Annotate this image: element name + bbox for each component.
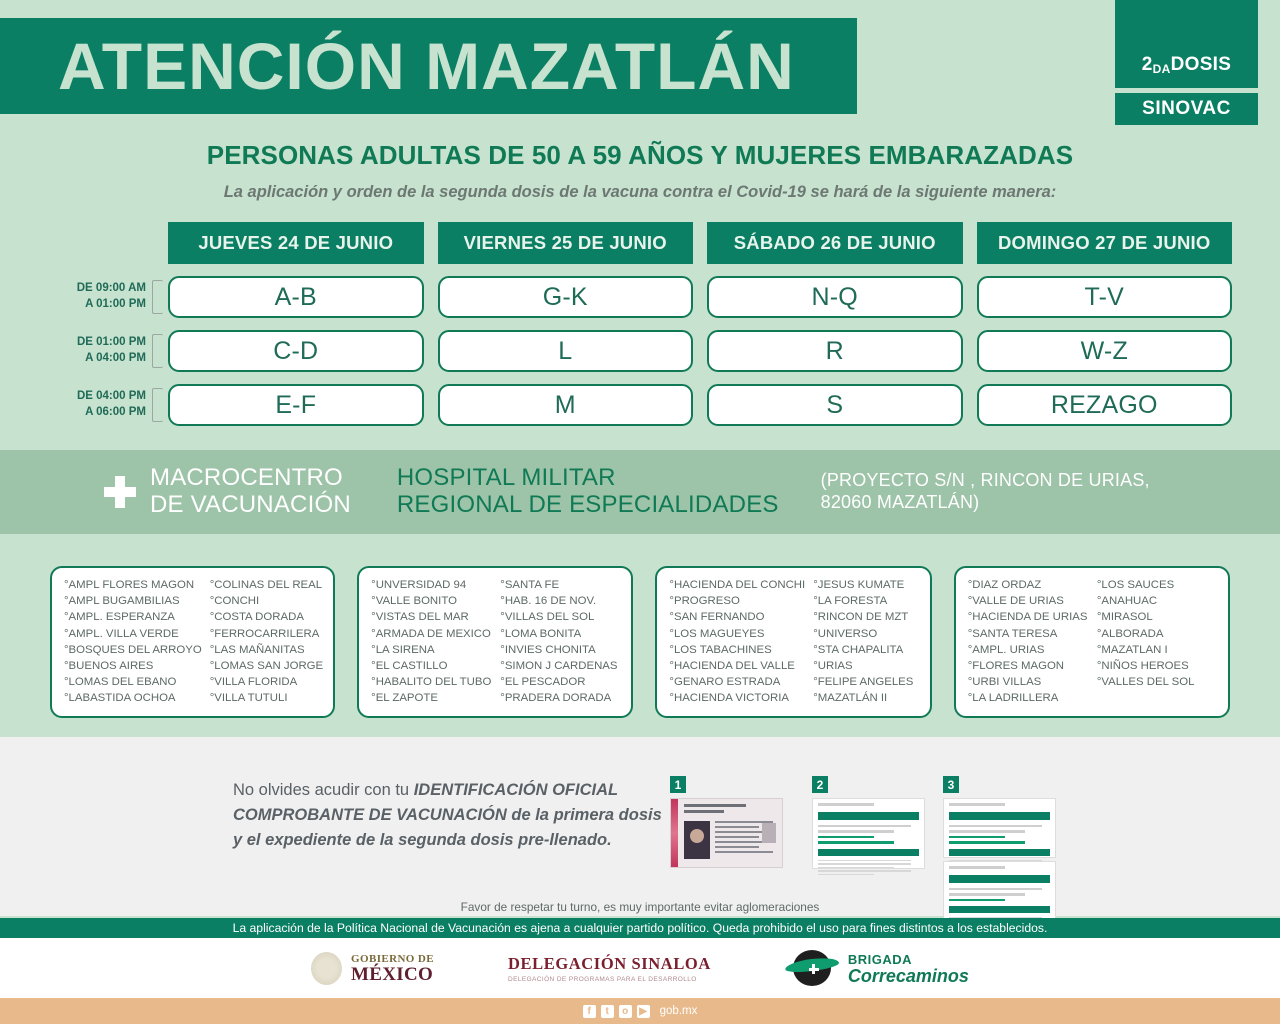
address-line2: 82060 MAZATLÁN) [821, 492, 1150, 514]
ine-portrait [684, 821, 710, 859]
time-from-afternoon: DE 01:00 PM [40, 335, 146, 351]
macrocentro-label: MACROCENTRO DE VACUNACIÓN [150, 465, 351, 519]
instructions-description: La aplicación y orden de la segunda dosi… [0, 183, 1280, 202]
youtube-icon[interactable]: ▶ [637, 1005, 650, 1018]
list-item: °AMPL. VILLA VERDE [64, 626, 202, 642]
facebook-icon[interactable]: f [583, 1005, 596, 1018]
macrocentro-line2: DE VACUNACIÓN [150, 492, 351, 519]
list-item: °ARMADA DE MEXICO [371, 626, 492, 642]
neighborhood-subcolumn: °AMPL FLORES MAGON °AMPL BUGAMBILIAS °AM… [64, 577, 202, 707]
list-item: °LABASTIDA OCHOA [64, 690, 202, 706]
day-column-3: DOMINGO 27 DE JUNIO [977, 222, 1233, 264]
letter-slot: R [707, 330, 963, 372]
list-item: °MAZATLÁN II [813, 690, 920, 706]
list-item: °AMPL. URIAS [968, 642, 1089, 658]
title-banner: ATENCIÓN MAZATLÁN [0, 18, 857, 114]
bracket-afternoon [152, 334, 168, 368]
logo-brigada-correcaminos: BRIGADA Correcaminos [785, 950, 969, 986]
dose-badge-number: 2 [1142, 54, 1153, 76]
list-item: °NIÑOS HEROES [1097, 658, 1218, 674]
list-item: °AMPL BUGAMBILIAS [64, 593, 202, 609]
vaccination-voucher-image [812, 798, 925, 869]
day-header-friday: VIERNES 25 DE JUNIO [438, 222, 694, 264]
page-title: ATENCIÓN MAZATLÁN [0, 33, 795, 99]
dose-badge: 2DADOSIS [1115, 0, 1258, 88]
neighborhood-group: °DIAZ ORDAZ °VALLE DE URIAS °HACIENDA DE… [954, 566, 1230, 718]
list-item: °LOMAS SAN JORGE [210, 658, 323, 674]
letter-slot: L [438, 330, 694, 372]
schedule-header-row: JUEVES 24 DE JUNIO VIERNES 25 DE JUNIO S… [40, 222, 1232, 264]
list-item: °LOMA BONITA [500, 626, 621, 642]
ine-header-lines [684, 804, 776, 816]
list-item: °AMPL FLORES MAGON [64, 577, 202, 593]
document-number-badge: 3 [943, 776, 959, 793]
list-item: °SAN FERNANDO [669, 609, 805, 625]
list-item: °COLINAS DEL REAL [210, 577, 323, 593]
required-documents-panel: No olvides acudir con tu IDENTIFICACIÓN … [0, 737, 1280, 916]
letter-slot: M [438, 384, 694, 426]
letter-slot: S [707, 384, 963, 426]
list-item: °HACIENDA VICTORIA [669, 690, 805, 706]
day-column-2: SÁBADO 26 DE JUNIO [707, 222, 963, 264]
list-item: °VISTAS DEL MAR [371, 609, 492, 625]
hospital-name: HOSPITAL MILITAR REGIONAL DE ESPECIALIDA… [397, 465, 779, 519]
letter-slot: REZAGO [977, 384, 1233, 426]
list-item: °VALLE BONITO [371, 593, 492, 609]
list-item: °CONCHI [210, 593, 323, 609]
list-item: °EL ZAPOTE [371, 690, 492, 706]
documents-connector: de [511, 806, 535, 824]
letter-slot: T-V [977, 276, 1233, 318]
neighborhood-group: °UNVERSIDAD 94 °VALLE BONITO °VISTAS DEL… [357, 566, 633, 718]
letter-slot: W-Z [977, 330, 1233, 372]
list-item: °URIAS [813, 658, 920, 674]
vaccination-record-page1 [943, 798, 1056, 858]
roadrunner-icon [785, 950, 839, 986]
schedule-bracket-spacer [152, 222, 168, 264]
list-item: °LOS MAGUEYES [669, 626, 805, 642]
ine-card-image [670, 798, 783, 868]
letter-slot: N-Q [707, 276, 963, 318]
day-column-0: JUEVES 24 DE JUNIO [168, 222, 424, 264]
list-item: °SANTA FE [500, 577, 621, 593]
schedule-row-evening: DE 04:00 PM A 06:00 PM E-F M S REZAGO [40, 384, 1232, 426]
list-item: °RINCON DE MZT [813, 609, 920, 625]
gobmx-label: gob.mx [660, 1005, 698, 1017]
list-item: °EL CASTILLO [371, 658, 492, 674]
list-item: °VILLAS DEL SOL [500, 609, 621, 625]
ine-stripe [671, 799, 678, 867]
delegacion-line1: DELEGACIÓN SINALOA [508, 954, 711, 974]
list-item: °JESUS KUMATE [813, 577, 920, 593]
list-item: °HACIENDA DE URIAS [968, 609, 1089, 625]
list-item: °FLORES MAGON [968, 658, 1089, 674]
time-to-morning: A 01:00 PM [40, 297, 146, 313]
neighborhood-group: °AMPL FLORES MAGON °AMPL BUGAMBILIAS °AM… [50, 566, 335, 718]
list-item: °HABALITO DEL TUBO [371, 674, 492, 690]
schedule-corner-spacer [40, 222, 152, 264]
required-documents-text: No olvides acudir con tu IDENTIFICACIÓN … [233, 778, 663, 853]
list-item: °HACIENDA DEL VALLE [669, 658, 805, 674]
bracket-evening [152, 388, 168, 422]
time-label-evening: DE 04:00 PM A 06:00 PM [40, 389, 152, 420]
letter-slot: E-F [168, 384, 424, 426]
list-item: °FELIPE ANGELES [813, 674, 920, 690]
time-label-morning: DE 09:00 AM A 01:00 PM [40, 281, 152, 312]
time-from-morning: DE 09:00 AM [40, 281, 146, 297]
address-line1: (PROYECTO S/N , RINCON DE URIAS, [821, 470, 1150, 492]
neighborhood-subcolumn: °HACIENDA DEL CONCHI °PROGRESO °SAN FERN… [669, 577, 805, 707]
list-item: °GENARO ESTRADA [669, 674, 805, 690]
list-item: °BUENOS AIRES [64, 658, 202, 674]
macrocentro-line1: MACROCENTRO [150, 465, 351, 492]
list-item: °STA CHAPALITA [813, 642, 920, 658]
list-item: °MAZATLAN I [1097, 642, 1218, 658]
twitter-icon[interactable]: t [601, 1005, 614, 1018]
neighborhood-subcolumn: °LOS SAUCES °ANAHUAC °MIRASOL °ALBORADA … [1097, 577, 1218, 707]
list-item: °LOS TABACHINES [669, 642, 805, 658]
neighborhood-lists: °AMPL FLORES MAGON °AMPL BUGAMBILIAS °AM… [0, 534, 1280, 718]
list-item: °HACIENDA DEL CONCHI [669, 577, 805, 593]
hospital-line1: HOSPITAL MILITAR [397, 465, 779, 492]
list-item: °PRADERA DORADA [500, 690, 621, 706]
delegacion-line2: DELEGACIÓN DE PROGRAMAS PARA EL DESARROL… [508, 976, 711, 983]
list-item: °EL PESCADOR [500, 674, 621, 690]
neighborhood-subcolumn: °JESUS KUMATE °LA FORESTA °RINCON DE MZT… [813, 577, 920, 707]
neighborhood-subcolumn: °SANTA FE °HAB. 16 DE NOV. °VILLAS DEL S… [500, 577, 621, 707]
list-item: °UNIVERSO [813, 626, 920, 642]
document-thumb-voucher: 2 [812, 776, 925, 869]
neighborhood-subcolumn: °UNVERSIDAD 94 °VALLE BONITO °VISTAS DEL… [371, 577, 492, 707]
logo-gobierno-mexico: GOBIERNO DE MÉXICO [311, 952, 434, 985]
letter-slot: A-B [168, 276, 424, 318]
neighborhood-group: °HACIENDA DEL CONCHI °PROGRESO °SAN FERN… [655, 566, 931, 718]
neighborhood-subcolumn: °DIAZ ORDAZ °VALLE DE URIAS °HACIENDA DE… [968, 577, 1089, 707]
list-item: °LOMAS DEL EBANO [64, 674, 202, 690]
letter-slot: C-D [168, 330, 424, 372]
medical-cross-icon [104, 476, 136, 508]
list-item: °DIAZ ORDAZ [968, 577, 1089, 593]
document-number-badge: 2 [812, 776, 828, 793]
social-media-bar: f t o ▶ gob.mx [0, 998, 1280, 1024]
document-thumb-ine: 1 [670, 776, 783, 868]
list-item: °MIRASOL [1097, 609, 1218, 625]
list-item: °AMPL. ESPERANZA [64, 609, 202, 625]
list-item: °LOS SAUCES [1097, 577, 1218, 593]
list-item: °SANTA TERESA [968, 626, 1089, 642]
turn-respect-note: Favor de respetar tu turno, es muy impor… [0, 900, 1280, 914]
schedule-table: JUEVES 24 DE JUNIO VIERNES 25 DE JUNIO S… [0, 222, 1280, 426]
schedule-row-morning: DE 09:00 AM A 01:00 PM A-B G-K N-Q T-V [40, 276, 1232, 318]
legal-disclaimer: La aplicación de la Política Nacional de… [0, 918, 1280, 938]
ine-seal [762, 823, 776, 843]
target-population-subtitle: PERSONAS ADULTAS DE 50 A 59 AÑOS Y MUJER… [0, 140, 1280, 171]
day-header-sunday: DOMINGO 27 DE JUNIO [977, 222, 1233, 264]
documents-intro: No olvides acudir con tu [233, 781, 414, 799]
brigada-line1: BRIGADA [848, 952, 969, 967]
list-item: °LA FORESTA [813, 593, 920, 609]
mexican-eagle-icon [311, 952, 342, 985]
vaccine-badge: SINOVAC [1115, 93, 1258, 125]
time-to-evening: A 06:00 PM [40, 405, 146, 421]
list-item: °VALLES DEL SOL [1097, 674, 1218, 690]
gobierno-line1: GOBIERNO DE [351, 953, 434, 965]
poster-header: ATENCIÓN MAZATLÁN 2DADOSIS SINOVAC [0, 0, 1280, 128]
brigada-line2: Correcaminos [848, 967, 969, 985]
instagram-icon[interactable]: o [619, 1005, 632, 1018]
list-item: °HAB. 16 DE NOV. [500, 593, 621, 609]
letter-slot: G-K [438, 276, 694, 318]
day-header-saturday: SÁBADO 26 DE JUNIO [707, 222, 963, 264]
day-header-thursday: JUEVES 24 DE JUNIO [168, 222, 424, 264]
list-item: °SIMON J CARDENAS [500, 658, 621, 674]
document-number-badge: 1 [670, 776, 686, 793]
logo-delegacion-sinaloa: DELEGACIÓN SINALOA DELEGACIÓN DE PROGRAM… [508, 954, 711, 983]
dose-badge-ordinal: DA [1153, 62, 1171, 76]
institutional-logos: GOBIERNO DE MÉXICO DELEGACIÓN SINALOA DE… [0, 938, 1280, 998]
gobierno-line2: MÉXICO [351, 965, 434, 984]
list-item: °UNVERSIDAD 94 [371, 577, 492, 593]
list-item: °URBI VILLAS [968, 674, 1089, 690]
list-item: °COSTA DORADA [210, 609, 323, 625]
list-item: °LA SIRENA [371, 642, 492, 658]
schedule-row-afternoon: DE 01:00 PM A 04:00 PM C-D L R W-Z [40, 330, 1232, 372]
list-item: °VILLA FLORIDA [210, 674, 323, 690]
time-to-afternoon: A 04:00 PM [40, 351, 146, 367]
list-item: °BOSQUES DEL ARROYO [64, 642, 202, 658]
list-item: °VILLA TUTULI [210, 690, 323, 706]
dose-badge-label: DOSIS [1171, 54, 1232, 76]
hospital-address: (PROYECTO S/N , RINCON DE URIAS, 82060 M… [821, 470, 1150, 513]
list-item: °PROGRESO [669, 593, 805, 609]
time-label-afternoon: DE 01:00 PM A 04:00 PM [40, 335, 152, 366]
list-item: °FERROCARRILERA [210, 626, 323, 642]
neighborhood-subcolumn: °COLINAS DEL REAL °CONCHI °COSTA DORADA … [210, 577, 323, 707]
time-from-evening: DE 04:00 PM [40, 389, 146, 405]
list-item: °INVIES CHONITA [500, 642, 621, 658]
list-item: °ANAHUAC [1097, 593, 1218, 609]
bracket-morning [152, 280, 168, 314]
list-item: °ALBORADA [1097, 626, 1218, 642]
list-item: °VALLE DE URIAS [968, 593, 1089, 609]
hospital-line2: REGIONAL DE ESPECIALIDADES [397, 492, 779, 519]
list-item: °LA LADRILLERA [968, 690, 1089, 706]
vaccination-center-banner: MACROCENTRO DE VACUNACIÓN HOSPITAL MILIT… [0, 450, 1280, 534]
day-column-1: VIERNES 25 DE JUNIO [438, 222, 694, 264]
list-item: °LAS MAÑANITAS [210, 642, 323, 658]
